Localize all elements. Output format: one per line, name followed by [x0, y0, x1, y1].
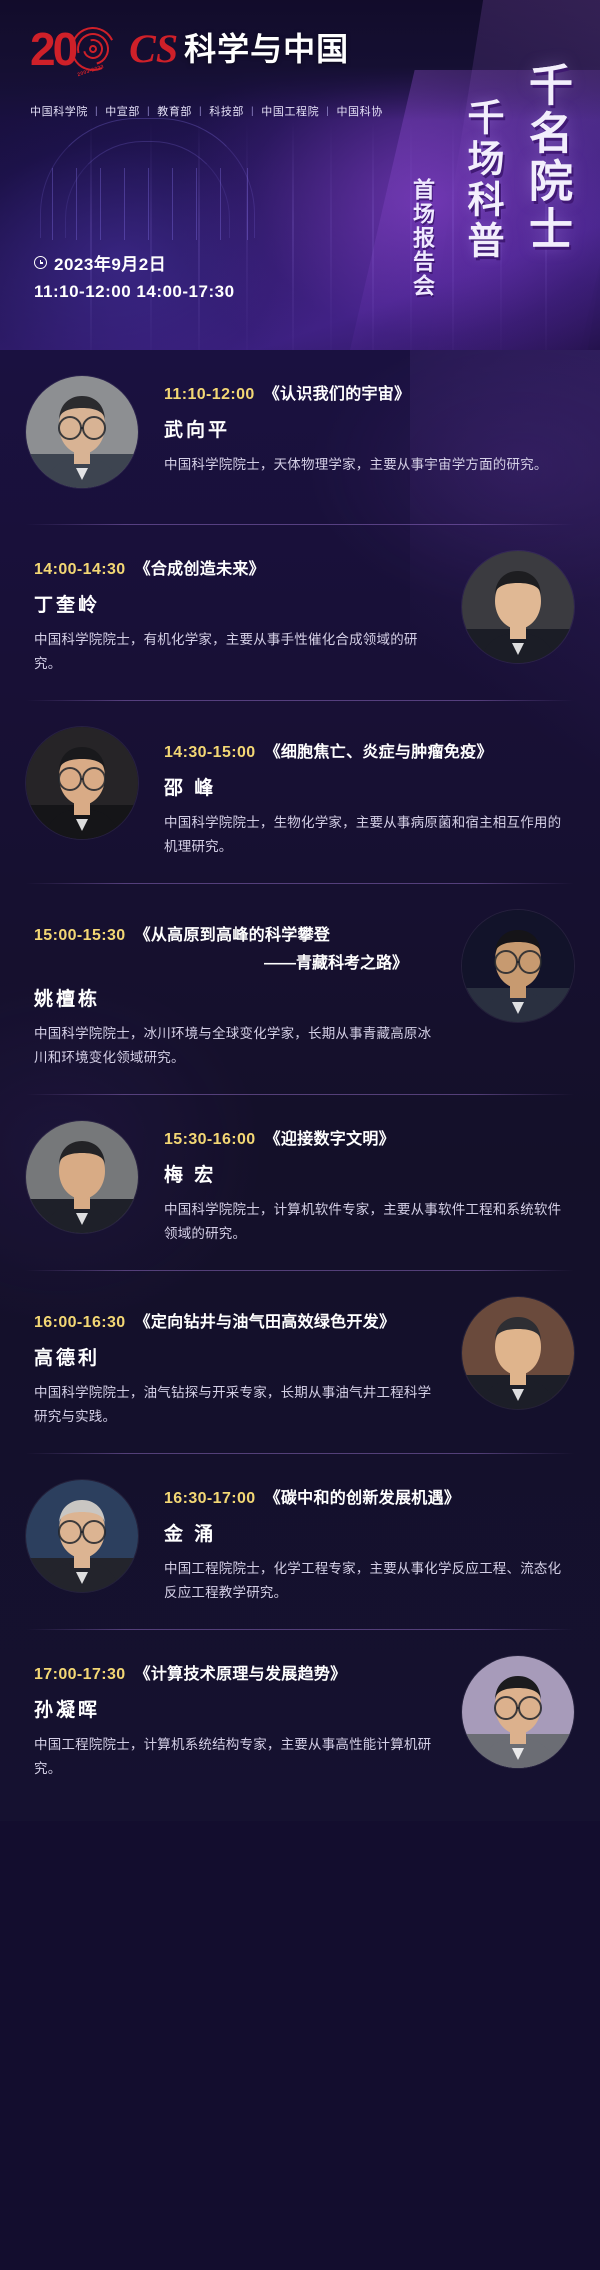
vertical-title-small: 首场报告会 — [406, 178, 438, 298]
organizer-item: 中国工程院 — [261, 103, 319, 119]
session-card[interactable]: 14:00-14:30《合成创造未来》丁奎岭中国科学院院士，有机化学家，主要从事… — [0, 525, 600, 676]
session-speaker-bio: 中国科学院院士，天体物理学家，主要从事宇宙学方面的研究。 — [164, 453, 566, 477]
spiral-logo-icon: 2003-2023 — [71, 27, 115, 71]
session-topic: 《认识我们的宇宙》 — [264, 380, 411, 404]
session-time: 17:00-17:30 — [34, 1666, 126, 1684]
session-speaker-bio: 中国科学院院士，油气钻探与开采专家，长期从事油气井工程科学研究与实践。 — [34, 1381, 436, 1429]
session-info: 14:00-14:30《合成创造未来》丁奎岭中国科学院院士，有机化学家，主要从事… — [26, 551, 444, 676]
organizer-item: 科技部 — [209, 103, 244, 119]
cs-monogram-icon: CS — [129, 29, 178, 69]
session-time: 14:00-14:30 — [34, 561, 126, 579]
session-headline: 15:30-16:00《迎接数字文明》 — [164, 1125, 566, 1149]
session-speaker-bio: 中国工程院院士，化学工程专家，主要从事化学反应工程、流态化反应工程教学研究。 — [164, 1557, 566, 1605]
organizer-separator: | — [199, 106, 202, 117]
session-card[interactable]: 16:30-17:00《碳中和的创新发展机遇》金 涌中国工程院院士，化学工程专家… — [0, 1454, 600, 1605]
session-topic: 《定向钻井与油气田高效绿色开发》 — [135, 1308, 396, 1332]
session-info: 14:30-15:00《细胞焦亡、炎症与肿瘤免疫》邵 峰中国科学院院士，生物化学… — [156, 727, 574, 859]
session-list: 11:10-12:00《认识我们的宇宙》武向平中国科学院院士，天体物理学家，主要… — [0, 350, 600, 1821]
session-time: 11:10-12:00 — [164, 386, 255, 404]
anniversary-number: 20 — [30, 26, 75, 72]
session-card[interactable]: 16:00-16:30《定向钻井与油气田高效绿色开发》高德利中国科学院院士，油气… — [0, 1271, 600, 1429]
session-info: 16:30-17:00《碳中和的创新发展机遇》金 涌中国工程院院士，化学工程专家… — [156, 1480, 574, 1605]
speaker-avatar-sunninghui — [462, 1656, 574, 1768]
session-speaker-bio: 中国工程院院士，计算机系统结构专家，主要从事高性能计算机研究。 — [34, 1733, 436, 1781]
session-card[interactable]: 14:30-15:00《细胞焦亡、炎症与肿瘤免疫》邵 峰中国科学院院士，生物化学… — [0, 701, 600, 859]
speaker-avatar-gaodeli — [462, 1297, 574, 1409]
vertical-title-sub: 千场科普 — [454, 98, 508, 262]
vertical-title-main: 千名院士 — [514, 62, 578, 254]
organizer-separator: | — [251, 106, 254, 117]
session-headline: 17:00-17:30《计算技术原理与发展趋势》 — [34, 1660, 436, 1684]
session-speaker-bio: 中国科学院院士，计算机软件专家，主要从事软件工程和系统软件领域的研究。 — [164, 1198, 566, 1246]
session-topic: 《碳中和的创新发展机遇》 — [265, 1484, 461, 1508]
session-speaker-name: 金 涌 — [164, 1519, 566, 1546]
session-headline: 14:00-14:30《合成创造未来》 — [34, 555, 436, 579]
session-speaker-name: 姚檀栋 — [34, 984, 436, 1011]
session-time: 16:00-16:30 — [34, 1314, 126, 1332]
session-topic: 《细胞焦亡、炎症与肿瘤免疫》 — [265, 738, 493, 762]
speaker-avatar-dingkuiling — [462, 551, 574, 663]
anniversary-logo: 20 2003-2023 — [30, 26, 115, 72]
session-speaker-name: 孙凝晖 — [34, 1695, 436, 1722]
clock-icon — [34, 256, 47, 269]
session-speaker-name: 丁奎岭 — [34, 590, 436, 617]
session-topic: 《合成创造未来》 — [135, 555, 265, 579]
session-card[interactable]: 11:10-12:00《认识我们的宇宙》武向平中国科学院院士，天体物理学家，主要… — [0, 350, 600, 500]
session-topic: 《计算技术原理与发展趋势》 — [135, 1660, 347, 1684]
poster-header: 20 2003-2023 CS 科学与中国 中国科学院 | 中宣部 | 教育部 … — [0, 0, 600, 350]
organizer-item: 中国科协 — [336, 103, 382, 119]
session-info: 15:30-16:00《迎接数字文明》梅 宏中国科学院院士，计算机软件专家，主要… — [156, 1121, 574, 1246]
organizer-item: 教育部 — [157, 103, 192, 119]
session-card[interactable]: 15:00-15:30《从高原到高峰的科学攀登——青藏科考之路》姚檀栋中国科学院… — [0, 884, 600, 1070]
organizer-separator: | — [95, 106, 98, 117]
session-time: 15:30-16:00 — [164, 1131, 256, 1149]
session-speaker-name: 梅 宏 — [164, 1160, 566, 1187]
session-headline: 16:00-16:30《定向钻井与油气田高效绿色开发》 — [34, 1301, 436, 1332]
session-headline: 11:10-12:00《认识我们的宇宙》 — [164, 380, 566, 404]
session-headline: 16:30-17:00《碳中和的创新发展机遇》 — [164, 1484, 566, 1508]
session-speaker-bio: 中国科学院院士，冰川环境与全球变化学家，长期从事青藏高原冰川和环境变化领域研究。 — [34, 1022, 436, 1070]
session-speaker-name: 邵 峰 — [164, 773, 566, 800]
organizer-separator: | — [326, 106, 329, 117]
speaker-avatar-yaotandong — [462, 910, 574, 1022]
speaker-avatar-wuxiangping — [26, 376, 138, 488]
organizer-list: 中国科学院 | 中宣部 | 教育部 | 科技部 | 中国工程院 | 中国科协 — [30, 103, 383, 119]
session-speaker-name: 武向平 — [164, 415, 566, 442]
session-info: 17:00-17:30《计算技术原理与发展趋势》孙凝晖中国工程院院士，计算机系统… — [26, 1656, 444, 1781]
brand-title: 科学与中国 — [184, 33, 349, 65]
speaker-avatar-jinyong — [26, 1480, 138, 1592]
decor-building-pillars — [52, 168, 248, 240]
session-time: 16:30-17:00 — [164, 1490, 256, 1508]
event-datetime: 2023年9月2日 11:10-12:00 14:00-17:30 — [34, 250, 235, 302]
organizer-item: 中宣部 — [105, 103, 140, 119]
speaker-avatar-shaofeng — [26, 727, 138, 839]
session-speaker-name: 高德利 — [34, 1343, 436, 1370]
session-info: 16:00-16:30《定向钻井与油气田高效绿色开发》高德利中国科学院院士，油气… — [26, 1297, 444, 1429]
session-topic: 《从高原到高峰的科学攀登 — [135, 921, 331, 945]
session-time: 15:00-15:30 — [34, 927, 126, 945]
session-headline: 14:30-15:00《细胞焦亡、炎症与肿瘤免疫》 — [164, 731, 566, 762]
session-speaker-bio: 中国科学院院士，生物化学家，主要从事病原菌和宿主相互作用的机理研究。 — [164, 811, 566, 859]
session-topic-continued: ——青藏科考之路》 — [34, 949, 436, 973]
session-card[interactable]: 15:30-16:00《迎接数字文明》梅 宏中国科学院院士，计算机软件专家，主要… — [0, 1095, 600, 1246]
session-time: 14:30-15:00 — [164, 744, 256, 762]
session-speaker-bio: 中国科学院院士，有机化学家，主要从事手性催化合成领域的研究。 — [34, 628, 436, 676]
organizer-item: 中国科学院 — [30, 103, 88, 119]
session-card[interactable]: 17:00-17:30《计算技术原理与发展趋势》孙凝晖中国工程院院士，计算机系统… — [0, 1630, 600, 1781]
organizer-separator: | — [147, 106, 150, 117]
poster-root: 20 2003-2023 CS 科学与中国 中国科学院 | 中宣部 | 教育部 … — [0, 0, 600, 2270]
speaker-avatar-meihong — [26, 1121, 138, 1233]
session-info: 11:10-12:00《认识我们的宇宙》武向平中国科学院院士，天体物理学家，主要… — [156, 376, 574, 477]
session-topic: 《迎接数字文明》 — [265, 1125, 395, 1149]
session-info: 15:00-15:30《从高原到高峰的科学攀登——青藏科考之路》姚檀栋中国科学院… — [26, 910, 444, 1070]
event-time: 11:10-12:00 14:00-17:30 — [34, 282, 235, 302]
brand-logo: 20 2003-2023 CS 科学与中国 — [30, 22, 349, 76]
event-date: 2023年9月2日 — [54, 250, 166, 275]
session-headline: 15:00-15:30《从高原到高峰的科学攀登 — [34, 914, 436, 945]
